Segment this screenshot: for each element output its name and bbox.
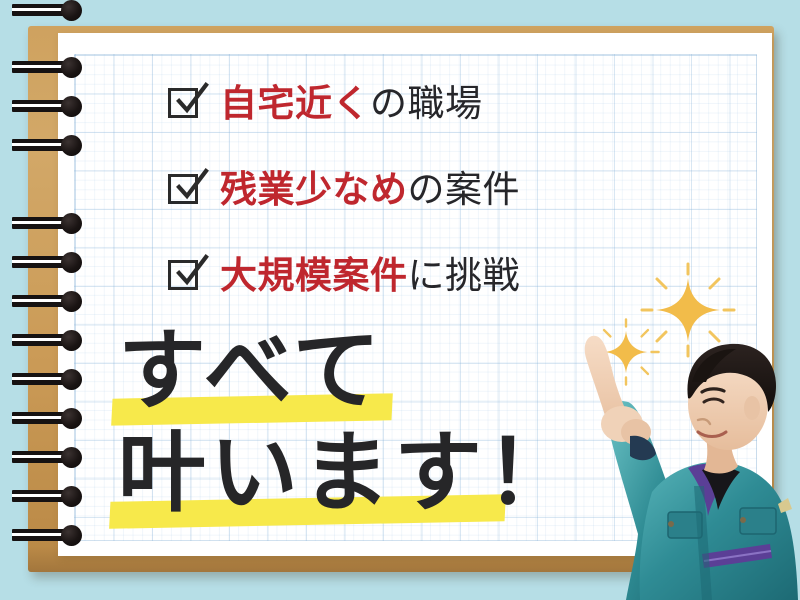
checklist-item-rest: の案件 xyxy=(408,168,521,211)
checkbox-checked-icon xyxy=(168,258,202,292)
checkbox-checked-icon xyxy=(168,86,202,120)
checklist-item-rest: の職場 xyxy=(370,82,483,125)
slogan-line-2: 叶います！ xyxy=(118,424,588,526)
sparkle-small-icon xyxy=(592,318,660,386)
checklist-item-rest: に挑戦 xyxy=(408,254,521,297)
checklist-item: 残業少なめの案件 xyxy=(168,146,688,232)
check-mark-icon xyxy=(171,166,209,204)
slogan-text-2: 叶います！ xyxy=(118,424,588,522)
checklist-item-highlight: 大規模案件 xyxy=(220,254,408,297)
spiral-ring xyxy=(12,0,90,20)
slogan-block: すべて 叶います！ xyxy=(118,322,588,526)
poster-canvas: 自宅近くの職場 残業少なめの案件 大規模案件に挑戦 xyxy=(0,0,800,600)
checklist: 自宅近くの職場 残業少なめの案件 大規模案件に挑戦 xyxy=(168,60,688,318)
check-mark-icon xyxy=(171,252,209,290)
spiral-ring-knob xyxy=(61,0,82,21)
check-mark-icon xyxy=(171,80,209,118)
checkbox-checked-icon xyxy=(168,172,202,206)
checklist-item: 自宅近くの職場 xyxy=(168,60,688,146)
checklist-item-text: 残業少なめの案件 xyxy=(220,171,520,208)
shoulder-badge xyxy=(778,498,792,513)
checklist-item-highlight: 残業少なめ xyxy=(220,168,408,211)
checklist-item: 大規模案件に挑戦 xyxy=(168,232,688,318)
checklist-item-highlight: 自宅近く xyxy=(220,82,370,125)
slogan-text-1: すべて xyxy=(118,322,588,420)
slogan-line-1: すべて xyxy=(118,322,588,424)
spiral-ring-tail xyxy=(12,4,68,16)
checklist-item-text: 自宅近くの職場 xyxy=(220,85,483,122)
checklist-item-text: 大規模案件に挑戦 xyxy=(220,257,520,294)
